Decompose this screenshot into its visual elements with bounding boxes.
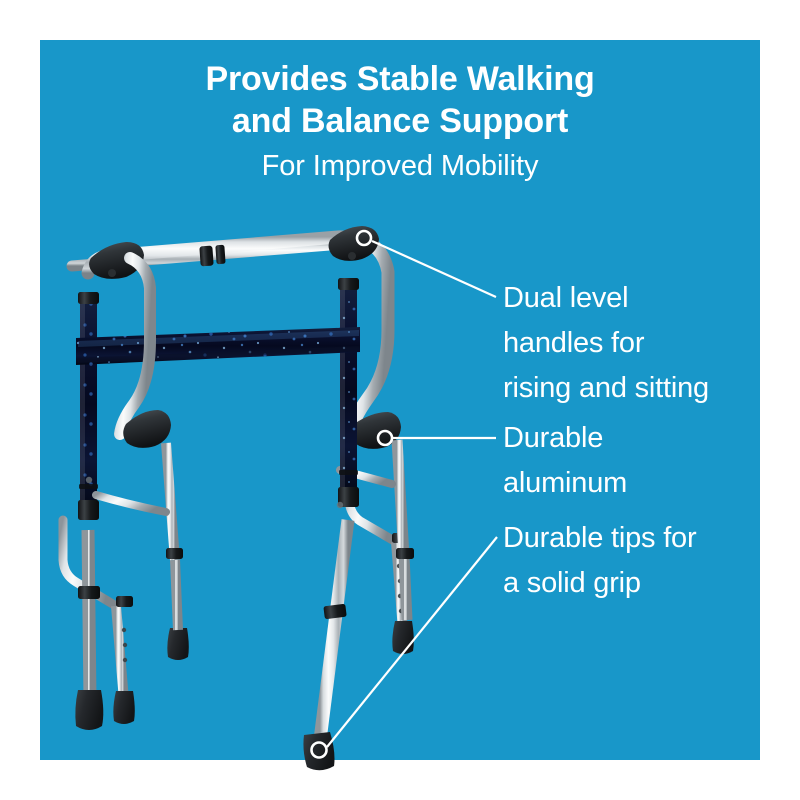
walker-rear-frame	[63, 243, 414, 724]
callout-2-line-1: Durable	[503, 416, 763, 461]
callout-2-line-2: aluminum	[503, 461, 763, 506]
callout-3-line-1: Durable tips for	[503, 516, 763, 561]
callout-durable-aluminum: Durable aluminum	[503, 416, 763, 506]
callout-1-line-1: Dual level	[503, 276, 763, 321]
rubber-tip-front-right	[303, 732, 334, 770]
rubber-tip-front-left-inner	[167, 628, 188, 660]
callout-1-line-3: rising and sitting	[503, 366, 763, 411]
walker-front-frame	[76, 226, 379, 530]
callout-1-line-2: handles for	[503, 321, 763, 366]
callout-dual-level-handles: Dual level handles for rising and sittin…	[503, 276, 763, 411]
rubber-tip-front-left	[75, 690, 103, 730]
speckled-upright-right	[340, 283, 357, 498]
speckled-crossbar	[76, 327, 360, 365]
product-infographic: Provides Stable Walking and Balance Supp…	[0, 0, 800, 800]
callout-3-line-2: a solid grip	[503, 561, 763, 606]
rubber-tip-rear-left	[113, 691, 134, 724]
callout-durable-tips: Durable tips for a solid grip	[503, 516, 763, 606]
rubber-tip-rear-right	[392, 621, 413, 654]
